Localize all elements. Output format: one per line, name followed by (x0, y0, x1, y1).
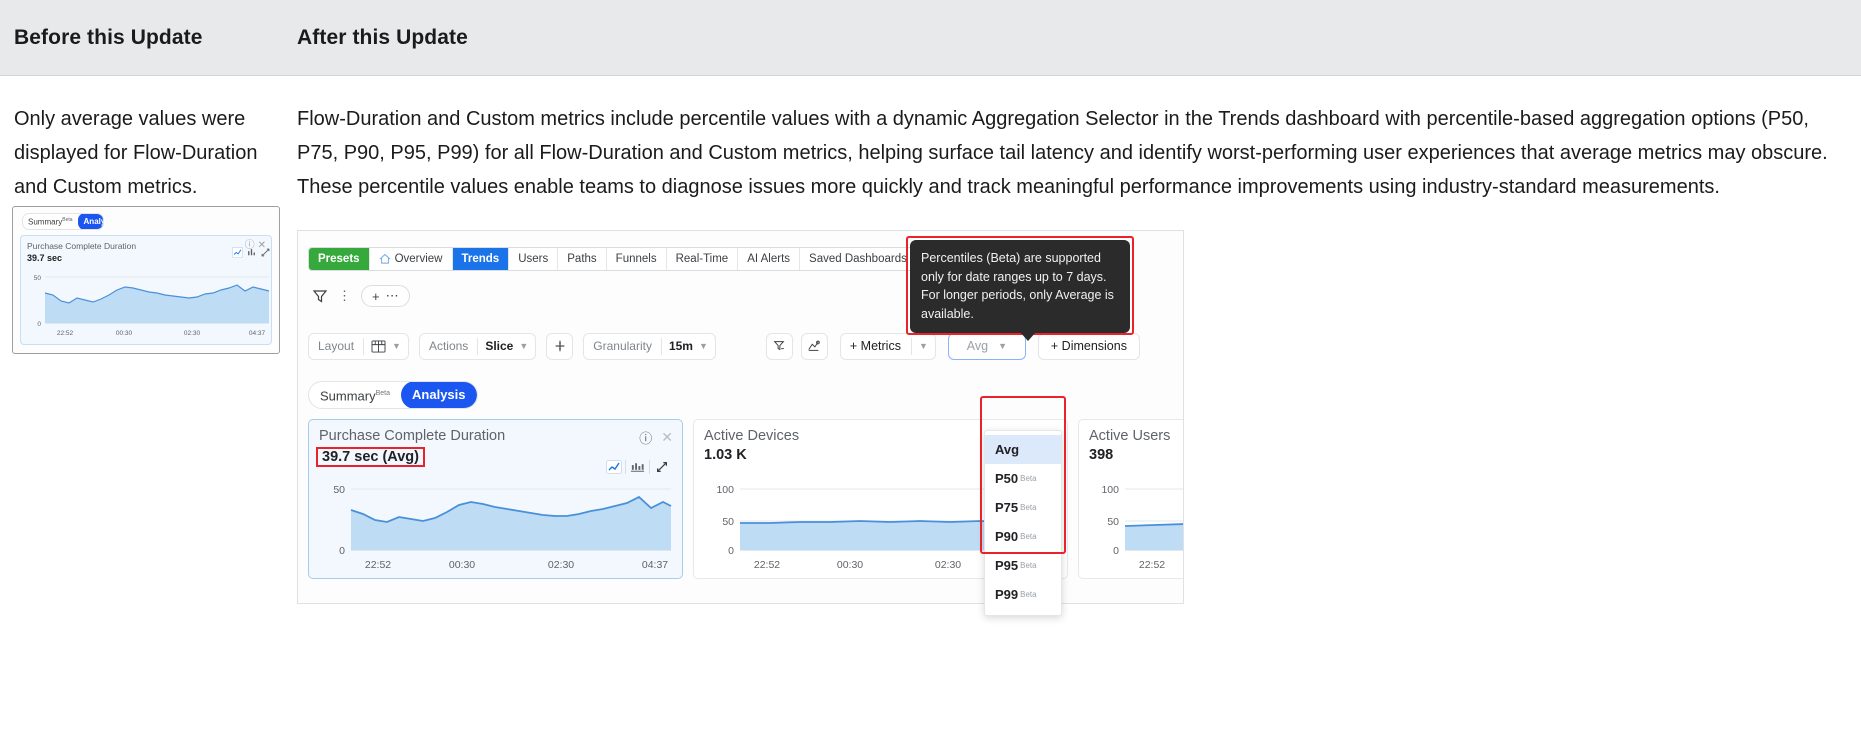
bar-chart-icon[interactable] (246, 247, 257, 258)
mini-tab-summary-beta: Beta (62, 217, 72, 223)
actions-value[interactable]: Slice ▼ (478, 339, 535, 353)
add-metrics-label: + Metrics (841, 339, 911, 353)
expand-icon (655, 460, 669, 474)
nav-tab-users[interactable]: Users (509, 248, 558, 270)
dropdown-option-p90-label: P90 (995, 529, 1018, 544)
bar-chart-icon (630, 460, 645, 474)
card-value: 39.7 sec (Avg) (316, 447, 425, 467)
xtick-2: 02:30 (548, 559, 574, 571)
dropdown-option-p95[interactable]: P95Beta (985, 551, 1061, 580)
dropdown-option-p75-label: P75 (995, 500, 1018, 515)
dropdown-option-p50-label: P50 (995, 471, 1018, 486)
subtab-summary-label: Summary (320, 388, 376, 403)
chevron-down-icon: ▼ (998, 341, 1007, 351)
home-icon (379, 253, 391, 265)
nav-tab-ai-alerts[interactable]: AI Alerts (738, 248, 800, 270)
actions-label: Actions (420, 339, 477, 353)
dashboard-toolbar: Layout ▼ Actions (308, 331, 1183, 361)
ytick-0: 0 (1113, 545, 1119, 557)
nav-tab-overview[interactable]: Overview (370, 248, 453, 270)
aggregation-selector[interactable]: Avg ▼ (948, 333, 1026, 360)
card-chart-type-icons (602, 456, 673, 477)
tooltip-text: Percentiles (Beta) are supported only fo… (921, 251, 1114, 321)
line-chart-button[interactable] (602, 456, 625, 477)
beta-badge: Beta (1020, 503, 1036, 512)
add-filter-ellipsis: ⋯ (386, 288, 399, 304)
add-metrics-chevron[interactable]: ▼ (912, 341, 935, 351)
chevron-down-icon: ▼ (919, 341, 928, 351)
add-dimensions-label: + Dimensions (1051, 339, 1127, 353)
chevron-down-icon: ▼ (392, 341, 401, 351)
metric-card-active-users[interactable]: Active Users 398 100 50 0 22:52 00:30 (1078, 419, 1183, 579)
beta-badge: Beta (1020, 590, 1036, 599)
xtick-0: 22:52 (1139, 559, 1165, 571)
nav-tab-saved-dashboards[interactable]: Saved Dashboards (800, 248, 916, 270)
dropdown-option-avg-label: Avg (995, 442, 1019, 457)
card-title: Active Users (1089, 428, 1183, 444)
before-description-text: Only average values were displayed for F… (14, 102, 282, 204)
actions-control[interactable]: Actions Slice ▼ (419, 333, 536, 360)
nav-tab-presets[interactable]: Presets (309, 248, 370, 270)
aggregation-dropdown-menu[interactable]: Avg P50Beta P75Beta P90Beta P95Beta P99B… (984, 430, 1062, 616)
comparison-header-band: Before this Update After this Update (0, 0, 1861, 76)
dropdown-option-p50[interactable]: P50Beta (985, 464, 1061, 493)
granularity-label: Granularity (584, 339, 661, 353)
ytick-100: 100 (1101, 484, 1119, 496)
tooltip-arrow (1020, 332, 1036, 341)
mini-tab-analysis[interactable]: Analysis (78, 213, 104, 230)
dropdown-option-p99-label: P99 (995, 587, 1018, 602)
nav-tab-real-time[interactable]: Real-Time (667, 248, 739, 270)
filter-row: ⋮ + ⋯ (312, 285, 410, 307)
chevron-down-icon: ▼ (519, 341, 528, 351)
before-column-header: Before this Update (14, 26, 203, 50)
card-value: 1.03 K (704, 447, 747, 463)
ytick-0: 0 (339, 545, 345, 557)
before-column: Only average values were displayed for F… (14, 102, 282, 204)
beta-badge: Beta (1020, 474, 1036, 483)
nav-tab-funnels[interactable]: Funnels (607, 248, 667, 270)
chevron-down-icon: ▼ (699, 341, 708, 351)
dashboard-nav-tabs[interactable]: Presets Overview Trends Users Paths Funn… (308, 247, 917, 271)
xtick-0: 22:52 (365, 559, 391, 571)
nav-tab-overview-label: Overview (395, 253, 443, 265)
ytick-50: 50 (722, 516, 734, 528)
add-dimensions-button[interactable]: + Dimensions (1038, 333, 1140, 360)
mini-subtab-group[interactable]: SummaryBeta Analysis (22, 213, 104, 230)
bar-chart-button[interactable] (626, 456, 649, 477)
mini-card-chart-icons (232, 247, 271, 258)
dashboard-subtab-group[interactable]: SummaryBeta Analysis (308, 381, 478, 409)
dropdown-option-p75[interactable]: P75Beta (985, 493, 1061, 522)
expand-button[interactable] (650, 456, 673, 477)
before-screenshot: SummaryBeta Analysis Purchase Complete D… (12, 206, 280, 354)
split-icon (553, 339, 567, 353)
dropdown-option-p90[interactable]: P90Beta (985, 522, 1061, 551)
add-filter-plus: + (372, 289, 380, 304)
add-metrics-control[interactable]: + Metrics ▼ (840, 333, 936, 360)
ytick-50: 50 (1107, 516, 1119, 528)
svg-text:50: 50 (34, 275, 42, 282)
subtab-summary-beta: Beta (376, 390, 390, 397)
layout-label: Layout (309, 339, 363, 353)
percentiles-tooltip: Percentiles (Beta) are supported only fo… (910, 240, 1130, 333)
compare-icon (807, 339, 821, 353)
mini-xtick-1: 00:30 (116, 330, 133, 337)
subtab-analysis[interactable]: Analysis (401, 381, 476, 409)
svg-text:0: 0 (37, 321, 41, 328)
ytick-0: 0 (728, 545, 734, 557)
dropdown-option-avg[interactable]: Avg (985, 435, 1061, 464)
beta-badge: Beta (1020, 561, 1036, 570)
card-title: Purchase Complete Duration (319, 428, 672, 444)
dropdown-option-p95-label: P95 (995, 558, 1018, 573)
filter-funnel-icon[interactable] (312, 288, 328, 304)
mini-xtick-0: 22:52 (57, 330, 74, 337)
xtick-1: 00:30 (837, 559, 863, 571)
line-chart-icon (606, 460, 622, 474)
xtick-3: 04:37 (642, 559, 668, 571)
granularity-value[interactable]: 15m ▼ (662, 339, 715, 353)
filter-button[interactable] (766, 333, 793, 360)
granularity-control[interactable]: Granularity 15m ▼ (583, 333, 716, 360)
mini-tab-summary-label: Summary (28, 218, 62, 227)
expand-icon[interactable] (260, 247, 271, 258)
mini-card-value: 39.7 sec (27, 253, 265, 263)
filter-icon (772, 339, 786, 353)
add-filter-button[interactable]: + ⋯ (361, 285, 410, 307)
granularity-value-label: 15m (669, 339, 693, 353)
card-top-icons: ⓘ ✕ (639, 428, 673, 447)
compare-button[interactable] (801, 333, 828, 360)
layout-control[interactable]: Layout ▼ (308, 333, 409, 360)
aggregation-selector-value: Avg (967, 339, 988, 353)
ytick-100: 100 (716, 484, 734, 496)
info-icon[interactable]: ⓘ (639, 428, 652, 447)
close-icon[interactable]: ✕ (661, 431, 673, 444)
mini-area-chart: 50 0 22:52 00:30 02:30 04:37 (25, 270, 271, 340)
mini-card-title: Purchase Complete Duration (27, 241, 265, 251)
after-description-text: Flow-Duration and Custom metrics include… (297, 102, 1853, 204)
layout-value[interactable]: ▼ (364, 340, 408, 353)
xtick-0: 22:52 (754, 559, 780, 571)
card-area-chart: 100 50 0 22:52 00:30 (1085, 480, 1183, 576)
split-button[interactable] (546, 333, 573, 360)
nav-tab-paths[interactable]: Paths (558, 248, 606, 270)
ytick-50: 50 (333, 484, 345, 496)
after-column-header: After this Update (297, 26, 468, 50)
mini-xtick-2: 02:30 (184, 330, 201, 337)
card-value: 398 (1089, 447, 1113, 463)
more-options-icon[interactable]: ⋮ (338, 291, 351, 301)
metric-card-purchase-complete-duration[interactable]: Purchase Complete Duration 39.7 sec (Avg… (308, 419, 683, 579)
dropdown-option-p99[interactable]: P99Beta (985, 580, 1061, 609)
card-area-chart: 50 0 22:52 00:30 02:30 04:37 (315, 480, 675, 576)
mini-xtick-3: 04:37 (249, 330, 266, 337)
subtab-summary[interactable]: SummaryBeta (309, 381, 401, 409)
actions-value-label: Slice (485, 339, 513, 353)
xtick-1: 00:30 (449, 559, 475, 571)
beta-badge: Beta (1020, 532, 1036, 541)
nav-tab-trends[interactable]: Trends (453, 248, 510, 270)
grid-layout-icon (371, 340, 386, 353)
mini-tab-summary[interactable]: SummaryBeta (23, 213, 78, 230)
line-chart-icon[interactable] (232, 247, 243, 258)
xtick-2: 02:30 (935, 559, 961, 571)
